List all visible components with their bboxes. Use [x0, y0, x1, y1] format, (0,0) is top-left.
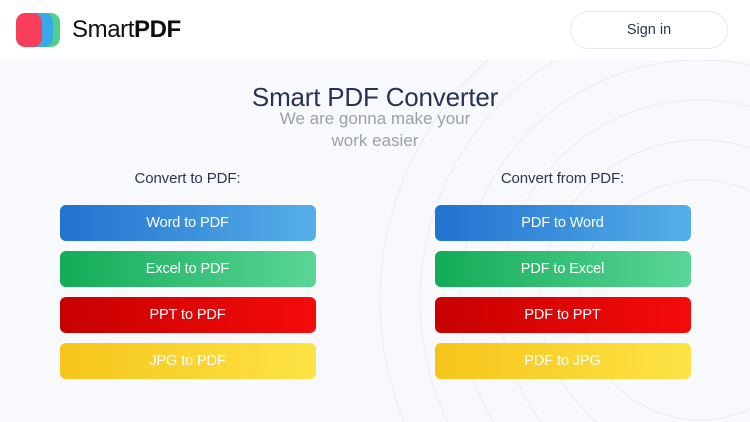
page-subtitle: We are gonna make your work easier — [275, 108, 475, 153]
sign-in-button[interactable]: Sign in — [570, 11, 728, 49]
convert-button-pdf-to-jpg[interactable]: PDF to JPG — [435, 343, 691, 379]
convert-button-excel-to-pdf[interactable]: Excel to PDF — [60, 251, 316, 287]
column-heading-from-pdf: Convert from PDF: — [501, 170, 624, 187]
convert-button-word-to-pdf[interactable]: Word to PDF — [60, 205, 316, 241]
brand-name: SmartPDF — [72, 16, 181, 44]
smartpdf-logo-icon — [16, 11, 60, 49]
button-stack-to-pdf: Word to PDF Excel to PDF PPT to PDF JPG … — [60, 205, 316, 379]
convert-button-pdf-to-ppt[interactable]: PDF to PPT — [435, 297, 691, 333]
column-convert-to-pdf: Convert to PDF: Word to PDF Excel to PDF… — [0, 170, 375, 379]
column-heading-to-pdf: Convert to PDF: — [134, 170, 240, 187]
main-content: Smart PDF Converter We are gonna make yo… — [0, 60, 750, 422]
convert-button-ppt-to-pdf[interactable]: PPT to PDF — [60, 297, 316, 333]
convert-button-jpg-to-pdf[interactable]: JPG to PDF — [60, 343, 316, 379]
brand-name-bold: PDF — [134, 16, 181, 43]
convert-button-pdf-to-word[interactable]: PDF to Word — [435, 205, 691, 241]
converter-columns: Convert to PDF: Word to PDF Excel to PDF… — [0, 170, 750, 379]
column-convert-from-pdf: Convert from PDF: PDF to Word PDF to Exc… — [375, 170, 750, 379]
button-stack-from-pdf: PDF to Word PDF to Excel PDF to PPT PDF … — [435, 205, 691, 379]
smartpdf-converter-page: SmartPDF Sign in Smart PDF Converter We … — [0, 0, 750, 422]
brand-name-light: Smart — [72, 16, 134, 43]
brand[interactable]: SmartPDF — [16, 11, 181, 49]
logo-card-pink — [16, 13, 42, 47]
app-header: SmartPDF Sign in — [0, 0, 750, 60]
convert-button-pdf-to-excel[interactable]: PDF to Excel — [435, 251, 691, 287]
